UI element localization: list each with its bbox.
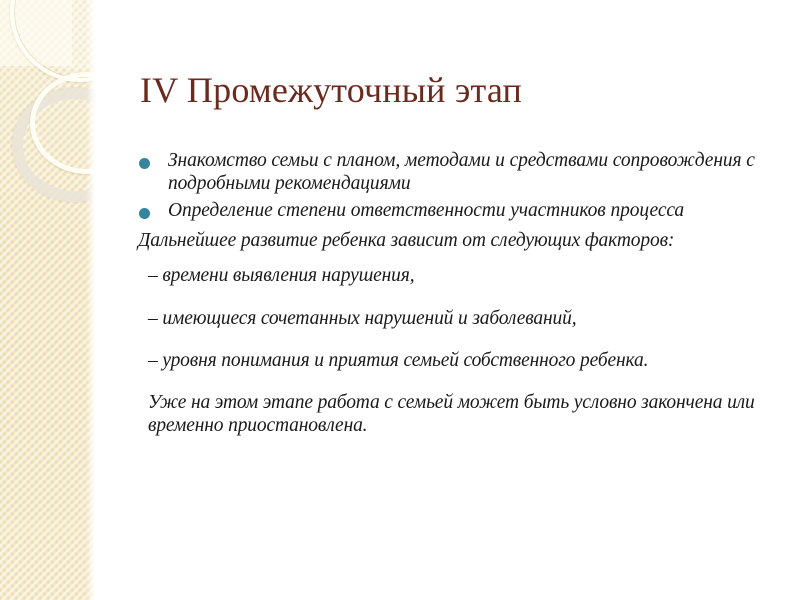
factor-item: – времени выявления нарушения, [130,265,790,288]
slide-body: Знакомство семьи с планом, методами и ср… [130,150,790,457]
slide-decorative-sidebar [0,0,96,600]
list-item: Определение степени ответственности учас… [130,200,790,223]
list-item-label: Знакомство семьи с планом, методами и ср… [168,150,755,194]
factor-item: – имеющиеся сочетанных нарушений и забол… [130,308,790,331]
list-item-label: Определение степени ответственности учас… [168,200,684,221]
presentation-slide: IV Промежуточный этап Знакомство семьи с… [0,0,800,600]
factor-item: – уровня понимания и приятия семьей собс… [130,350,790,373]
decor-ring-top-icon [10,0,96,82]
slide-title: IV Промежуточный этап [140,70,780,110]
bullet-dot-icon [139,208,150,219]
intro-paragraph: Дальнейшее развитие ребенка зависит от с… [130,230,790,253]
closing-paragraph: Уже на этом этапе работа с семьей может … [130,392,790,438]
bullet-dot-icon [139,158,150,169]
list-item: Знакомство семьи с планом, методами и ср… [130,150,790,196]
